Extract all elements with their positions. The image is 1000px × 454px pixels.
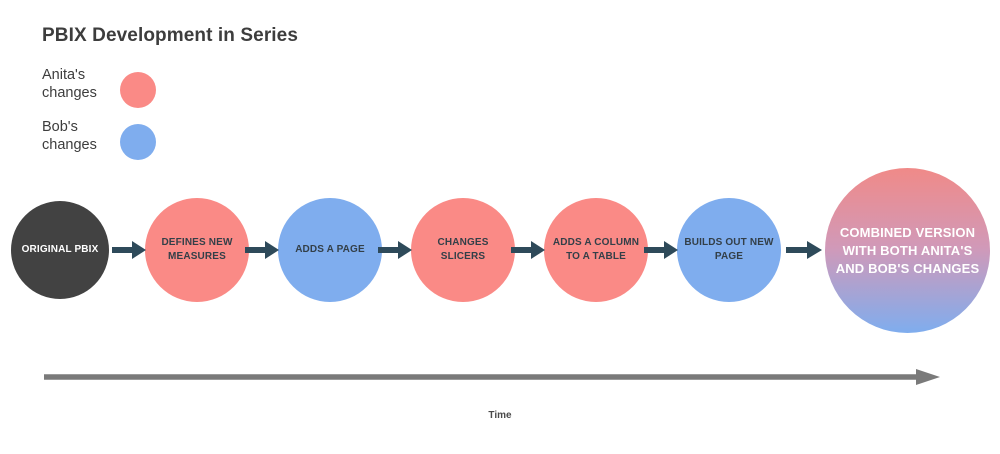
connector-arrow-6: [786, 238, 822, 267]
connector-arrow-2: [245, 238, 279, 267]
flow-node-label: DEFINES NEW MEASURES: [155, 236, 238, 264]
connector-arrow-1: [112, 238, 146, 267]
flow-node-combined-version[interactable]: COMBINED VERSION WITH BOTH ANITA'S AND B…: [825, 168, 990, 333]
flow-node-changes-slicers[interactable]: CHANGES SLICERS: [411, 198, 515, 302]
flow-node-label: COMBINED VERSION WITH BOTH ANITA'S AND B…: [828, 224, 988, 278]
bob-swatch-icon: [120, 124, 156, 160]
legend-label-anita: Anita's changes: [42, 66, 112, 102]
flow-node-defines-new-measures[interactable]: DEFINES NEW MEASURES: [145, 198, 249, 302]
connector-arrow-4: [511, 238, 545, 267]
flow-node-builds-out-new-page[interactable]: BUILDS OUT NEW PAGE: [677, 198, 781, 302]
flow-node-label: CHANGES SLICERS: [411, 236, 515, 264]
flow-node-adds-a-page[interactable]: ADDS A PAGE: [278, 198, 382, 302]
time-axis-label: Time: [0, 410, 1000, 421]
flow-node-label: ADDS A COLUMN TO A TABLE: [547, 236, 645, 264]
page-title: PBIX Development in Series: [42, 25, 298, 47]
legend-label-bob: Bob's changes: [42, 118, 112, 154]
flow-node-adds-a-column-to-a-table[interactable]: ADDS A COLUMN TO A TABLE: [544, 198, 648, 302]
connector-arrow-3: [378, 238, 412, 267]
time-axis-arrow: [44, 366, 940, 393]
flow-node-label: ADDS A PAGE: [289, 243, 371, 257]
flow-node-label: ORIGINAL PBIX: [16, 243, 105, 257]
flow-node-original-pbix[interactable]: ORIGINAL PBIX: [11, 201, 109, 299]
flow-node-label: BUILDS OUT NEW PAGE: [678, 236, 779, 264]
diagram-canvas: PBIX Development in Series Anita's chang…: [0, 0, 1000, 454]
anita-swatch-icon: [120, 72, 156, 108]
connector-arrow-5: [644, 238, 678, 267]
